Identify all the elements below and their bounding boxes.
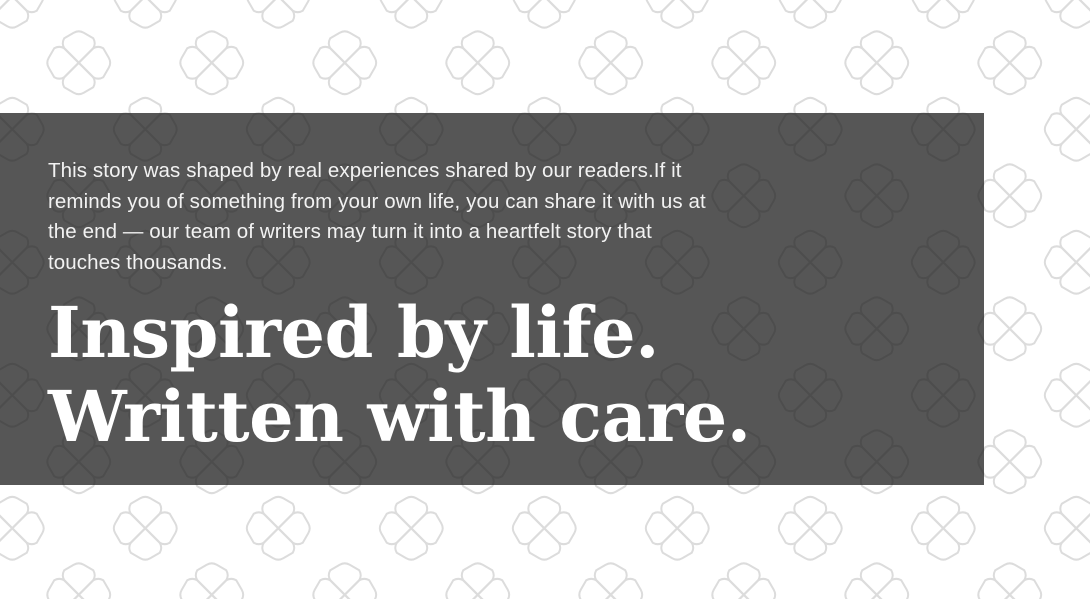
dark-content-panel: This story was shaped by real experience… <box>0 113 984 485</box>
panel-text-block: This story was shaped by real experience… <box>48 113 748 485</box>
poster-canvas: This story was shaped by real experience… <box>0 0 1090 599</box>
intro-paragraph: This story was shaped by real experience… <box>48 156 708 278</box>
page-title: Inspired by life. Written with care. <box>48 291 868 459</box>
